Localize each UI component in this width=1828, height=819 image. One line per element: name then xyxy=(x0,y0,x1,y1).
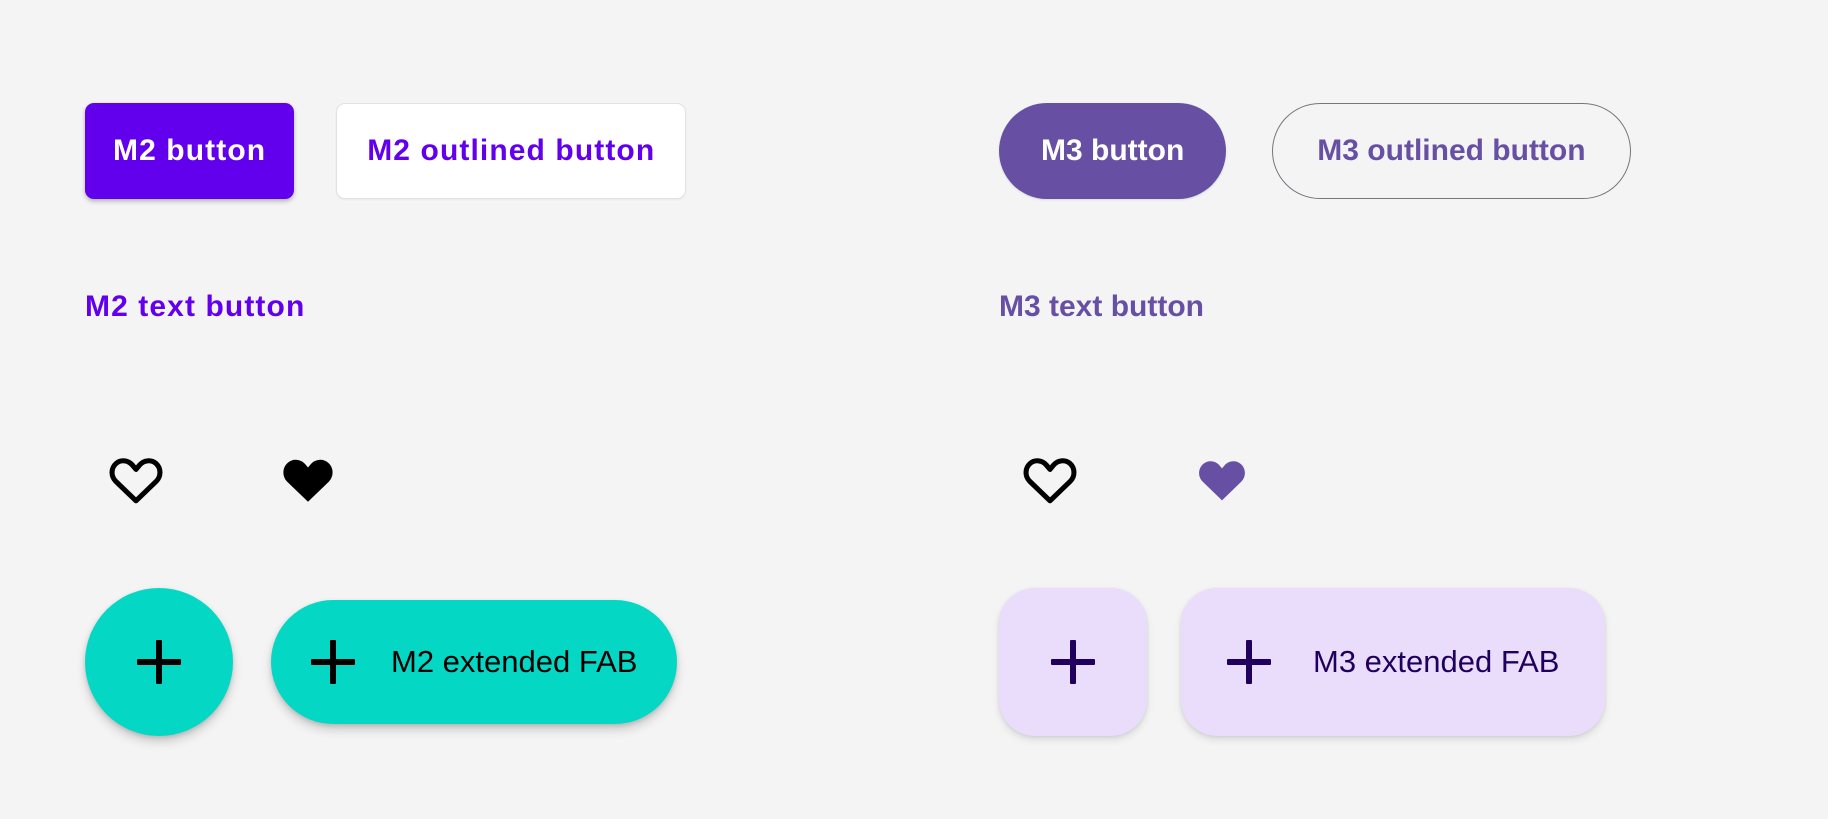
m2-outlined-button[interactable]: M2 outlined button xyxy=(336,103,686,199)
m3-outlined-button[interactable]: M3 outlined button xyxy=(1272,103,1630,199)
heart-filled-icon xyxy=(1195,454,1249,508)
m3-text-button-row: M3 text button xyxy=(999,290,1204,324)
m2-fab-button[interactable] xyxy=(85,588,233,736)
m3-button-row: M3 button M3 outlined button xyxy=(999,103,1631,199)
heart-outline-icon xyxy=(107,452,165,510)
m2-filled-button[interactable]: M2 button xyxy=(85,103,294,199)
m2-extended-fab-label: M2 extended FAB xyxy=(391,644,637,680)
m2-text-button[interactable]: M2 text button xyxy=(85,290,305,324)
m2-text-button-row: M2 text button xyxy=(85,290,305,324)
m3-extended-fab-label: M3 extended FAB xyxy=(1313,644,1559,680)
m3-icon-row xyxy=(1019,450,1253,512)
plus-icon xyxy=(1051,640,1095,684)
m3-heart-outline-button[interactable] xyxy=(1019,450,1081,512)
m3-fab-button[interactable] xyxy=(999,588,1147,736)
heart-outline-icon xyxy=(1021,452,1079,510)
plus-icon xyxy=(137,640,181,684)
comparison-stage: M2 button M2 outlined button M2 text but… xyxy=(0,0,1828,819)
m3-text-button[interactable]: M3 text button xyxy=(999,290,1204,324)
m3-fab-row: M3 extended FAB xyxy=(999,588,1605,736)
m2-heart-outline-button[interactable] xyxy=(105,450,167,512)
m2-extended-fab-button[interactable]: M2 extended FAB xyxy=(271,600,677,724)
m2-icon-row xyxy=(105,450,339,512)
m2-heart-filled-button[interactable] xyxy=(277,450,339,512)
m3-column: M3 button M3 outlined button M3 text but… xyxy=(914,0,1828,819)
m2-fab-row: M2 extended FAB xyxy=(85,588,677,736)
m2-button-row: M2 button M2 outlined button xyxy=(85,103,686,199)
m3-heart-filled-button[interactable] xyxy=(1191,450,1253,512)
heart-filled-icon xyxy=(279,452,337,510)
m3-extended-fab-button[interactable]: M3 extended FAB xyxy=(1181,588,1605,736)
plus-icon xyxy=(311,640,355,684)
plus-icon xyxy=(1227,640,1271,684)
m3-filled-button[interactable]: M3 button xyxy=(999,103,1226,199)
m2-column: M2 button M2 outlined button M2 text but… xyxy=(0,0,914,819)
